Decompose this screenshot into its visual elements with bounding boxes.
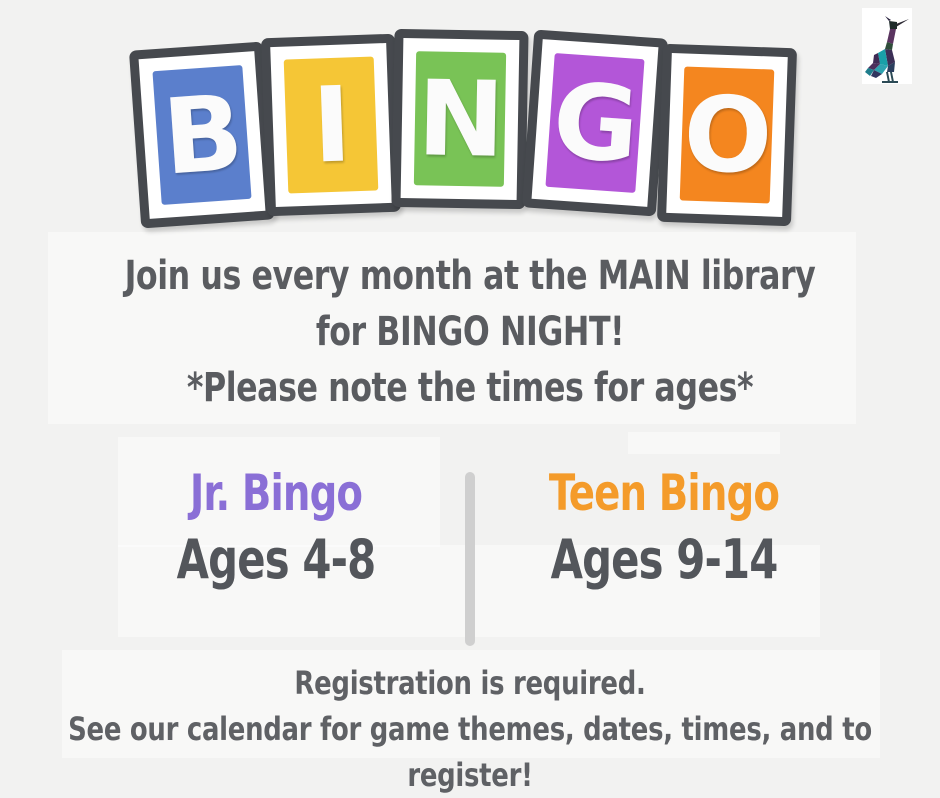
bingo-letter-b: B <box>160 80 244 189</box>
footer-line-1: Registration is required. <box>47 660 893 706</box>
bingo-tile-i-swatch: I <box>284 56 379 193</box>
bingo-tile-o-swatch: O <box>680 66 775 203</box>
footer-line-2: See our calendar for game themes, dates,… <box>47 706 893 798</box>
headline-line-2: for BINGO NIGHT! <box>56 304 883 360</box>
headline-line-1: Join us every month at the MAIN library <box>56 248 883 304</box>
teen-title-backdrop-panel <box>628 432 780 454</box>
bingo-letter-o: O <box>682 82 772 189</box>
column-divider <box>465 472 475 646</box>
bingo-tile-n-swatch: N <box>414 51 506 187</box>
sessions-columns: Jr. Bingo Ages 4-8 Teen Bingo Ages 9-14 <box>0 462 940 646</box>
jr-bingo-ages: Ages 4-8 <box>126 524 427 596</box>
bingo-tile-b: B <box>129 42 275 229</box>
headline-line-3: *Please note the times for ages* <box>56 360 883 416</box>
teen-bingo-column: Teen Bingo Ages 9-14 <box>489 462 839 596</box>
teen-bingo-title: Teen Bingo <box>514 462 815 524</box>
bingo-letter-n: N <box>417 66 504 171</box>
bingo-tile-i: I <box>261 34 401 217</box>
bingo-tile-g: G <box>522 30 668 217</box>
bingo-tile-b-swatch: B <box>152 65 251 205</box>
bingo-letter-i: I <box>311 72 351 177</box>
bingo-letter-g: G <box>550 68 640 178</box>
jr-bingo-column: Jr. Bingo Ages 4-8 <box>101 462 451 596</box>
headline-block: Join us every month at the MAIN library … <box>0 248 940 416</box>
bingo-tile-o: O <box>657 44 797 227</box>
jr-bingo-title: Jr. Bingo <box>126 462 427 524</box>
teen-bingo-ages: Ages 9-14 <box>514 524 815 596</box>
bingo-tile-g-swatch: G <box>545 53 644 193</box>
bingo-tile-n: N <box>391 29 528 209</box>
heron-logo-icon <box>862 8 912 84</box>
footer-block: Registration is required. See our calend… <box>0 660 940 798</box>
bingo-wordmark: B I N G O <box>135 28 805 238</box>
